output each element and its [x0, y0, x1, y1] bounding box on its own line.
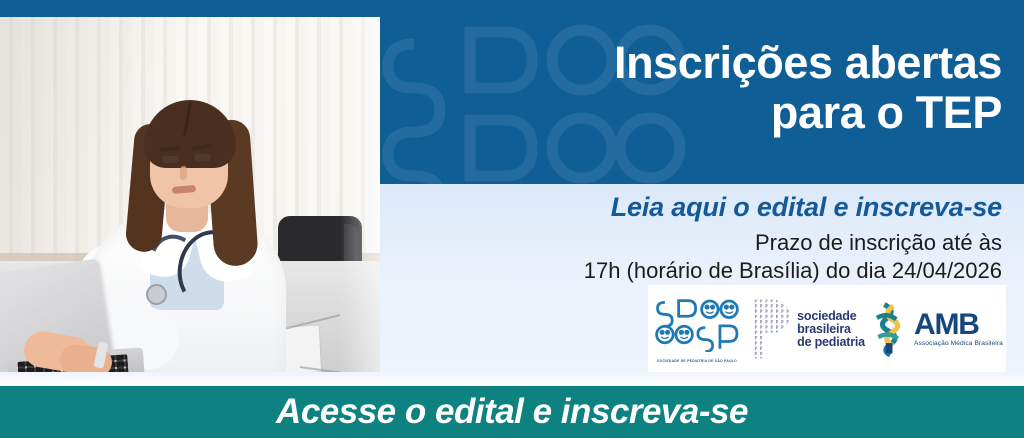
headline-line-2: para o TEP [402, 88, 1002, 138]
headline-line-1: Inscrições abertas [402, 38, 1002, 88]
spsp-logo: SOCIEDADE DE PEDIATRIA DE SÃO PAULO [651, 296, 743, 363]
amb-caduceus-icon [871, 301, 911, 357]
eye-right [194, 154, 211, 161]
stethoscope-bell [146, 284, 167, 305]
white-divider [0, 372, 1024, 386]
deadline-text: Prazo de inscrição até às 17h (horário d… [402, 229, 1002, 285]
amb-caption: Associação Médica Brasileira [914, 340, 1003, 347]
doctor-photo [0, 16, 380, 372]
headline: Inscrições abertas para o TEP [402, 38, 1002, 138]
photo-edge-fade [340, 16, 380, 372]
spsp-caption: SOCIEDADE DE PEDIATRIA DE SÃO PAULO [651, 359, 743, 363]
subtitle-link[interactable]: Leia aqui o edital e inscreva-se [402, 192, 1002, 223]
spsp-mark-icon [651, 296, 743, 352]
amb-logo: AMB Associação Médica Brasileira [871, 301, 1003, 357]
nose [180, 166, 187, 180]
cta-bar[interactable]: Acesse o edital e inscreva-se [0, 386, 1024, 438]
deadline-line-1: Prazo de inscrição até às [402, 229, 1002, 257]
promo-banner: Inscrições abertas para o TEP Leia aqui … [0, 0, 1024, 438]
logo-panel: SOCIEDADE DE PEDIATRIA DE SÃO PAULO P so… [648, 285, 1006, 373]
sbp-line-3: de pediatria [797, 336, 865, 349]
cta-label: Acesse o edital e inscreva-se [276, 392, 748, 432]
amb-wordmark: AMB [914, 311, 1003, 339]
blue-top-strip [0, 0, 386, 17]
deadline-line-2: 17h (horário de Brasília) do dia 24/04/2… [402, 257, 1002, 285]
eye-left [162, 156, 179, 163]
sbp-line-1: sociedade [797, 310, 865, 323]
doctor-photo-container [0, 0, 386, 380]
sbp-p-mark-icon: P [749, 298, 793, 360]
sbp-line-2: brasileira [797, 323, 865, 336]
headline-panel: Inscrições abertas para o TEP [380, 0, 1024, 184]
sbp-logo: P sociedade brasileira de pediatria [749, 298, 865, 360]
